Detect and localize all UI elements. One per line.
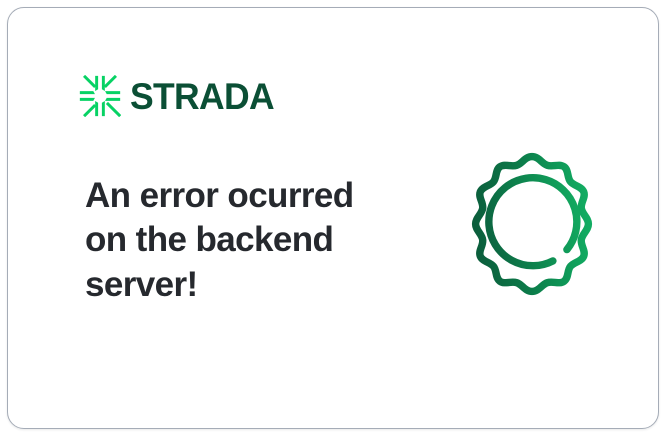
brand-wordmark: STRADA: [130, 78, 274, 115]
error-card: STRADA An error ocurred on the backend s…: [7, 7, 659, 429]
error-headline: An error ocurred on the backend server!: [85, 174, 375, 307]
strada-asterisk-icon: [79, 75, 121, 117]
error-headline-line-3: server!: [85, 265, 198, 304]
error-page: STRADA An error ocurred on the backend s…: [0, 0, 666, 436]
gear-illustration: [453, 148, 613, 310]
error-headline-line-2: on the backend: [85, 220, 333, 259]
error-headline-line-1: An error ocurred: [85, 176, 354, 215]
gear-cog-icon: [453, 148, 613, 310]
brand-logo: STRADA: [79, 75, 280, 117]
